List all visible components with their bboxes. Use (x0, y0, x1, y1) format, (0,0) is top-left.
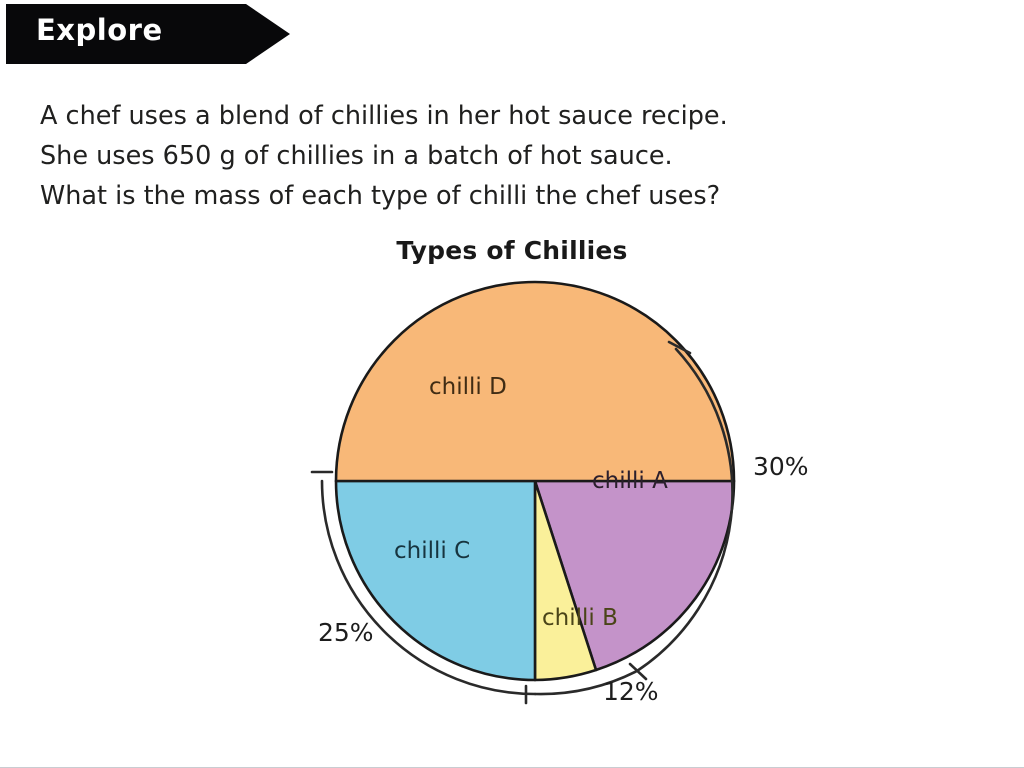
percent-label-12: 12% (603, 677, 659, 706)
percent-label-30: 30% (753, 452, 809, 481)
pie-label-chilli-b: chilli B (542, 605, 618, 631)
question-text-block: A chef uses a blend of chillies in her h… (40, 96, 900, 216)
percent-label-25: 25% (318, 618, 374, 647)
slide-canvas: Explore A chef uses a blend of chillies … (0, 0, 1024, 768)
pie-label-chilli-c: chilli C (394, 538, 470, 564)
explore-banner-label: Explore (36, 13, 163, 47)
pie-label-chilli-a: chilli A (592, 468, 668, 494)
question-line-2: She uses 650 g of chillies in a batch of… (40, 136, 900, 176)
pie-slice-chilli-d (336, 282, 734, 481)
pie-slice-chilli-c (336, 481, 535, 680)
question-line-3: What is the mass of each type of chilli … (40, 176, 900, 216)
pie-chart: chilli D chilli A chilli C chilli B 30% … (270, 250, 890, 730)
question-line-1: A chef uses a blend of chillies in her h… (40, 96, 900, 136)
pie-label-chilli-d: chilli D (429, 374, 507, 400)
pie-chart-svg (270, 250, 890, 730)
